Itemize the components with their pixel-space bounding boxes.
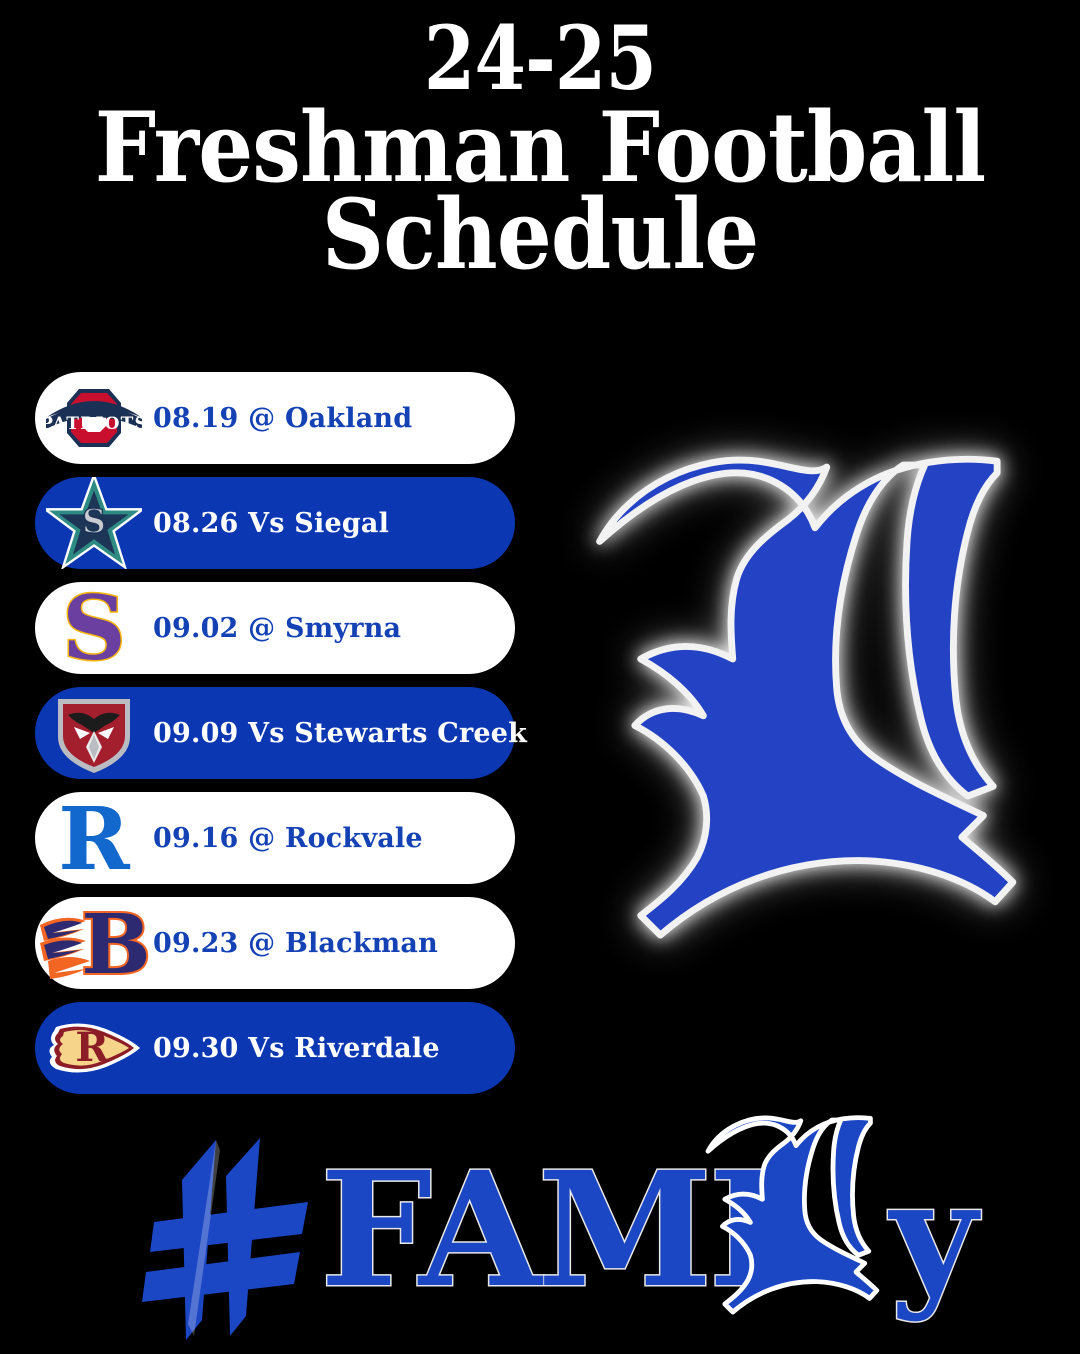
hashtag-family-logo: FAMI y: [120, 1110, 1020, 1350]
team-logo-letter-l: [580, 420, 1050, 990]
schedule-row-stewarts-creek[interactable]: 09.09 Vs Stewarts Creek: [35, 687, 515, 779]
title-line-2: Schedule: [54, 189, 1026, 281]
game-text: 09.23 @ Blackman: [153, 928, 438, 959]
blackman-blaze-icon: B: [35, 897, 153, 989]
title-year: 24-25: [86, 16, 993, 100]
schedule-list: PATRIOTS 08.19 @ Oakland S 08.26 Vs Sieg…: [35, 372, 515, 1107]
svg-text:PATRIOTS: PATRIOTS: [41, 414, 147, 434]
game-text: 08.19 @ Oakland: [153, 403, 412, 434]
schedule-row-riverdale[interactable]: R 09.30 Vs Riverdale: [35, 1002, 515, 1094]
svg-text:S: S: [62, 585, 126, 671]
svg-text:R: R: [58, 797, 130, 879]
schedule-row-oakland[interactable]: PATRIOTS 08.19 @ Oakland: [35, 372, 515, 464]
riverdale-warriors-icon: R: [35, 1002, 153, 1094]
schedule-row-siegal[interactable]: S 08.26 Vs Siegal: [35, 477, 515, 569]
svg-text:y: y: [888, 1148, 981, 1324]
game-text: 09.02 @ Smyrna: [153, 613, 401, 644]
svg-text:R: R: [75, 1024, 109, 1071]
game-text: 08.26 Vs Siegal: [153, 508, 389, 539]
schedule-row-blackman[interactable]: B 09.23 @ Blackman: [35, 897, 515, 989]
game-text: 09.30 Vs Riverdale: [153, 1033, 440, 1064]
hash-brush-icon: [142, 1138, 308, 1340]
stewarts-creek-red-hawks-icon: [35, 687, 153, 779]
schedule-row-rockvale[interactable]: R 09.16 @ Rockvale: [35, 792, 515, 884]
smyrna-bulldogs-icon: S: [35, 582, 153, 674]
svg-text:B: B: [81, 903, 150, 983]
rockvale-rockets-icon: R: [35, 792, 153, 884]
siegel-stars-icon: S: [35, 477, 153, 569]
page-title: 24-25 Freshman Football Schedule: [0, 16, 1080, 281]
svg-text:FAMI: FAMI: [320, 1138, 778, 1323]
game-text: 09.16 @ Rockvale: [153, 823, 423, 854]
svg-text:S: S: [82, 502, 106, 541]
schedule-row-smyrna[interactable]: S 09.02 @ Smyrna: [35, 582, 515, 674]
game-text: 09.09 Vs Stewarts Creek: [153, 718, 527, 749]
oakland-patriots-icon: PATRIOTS: [35, 372, 153, 464]
